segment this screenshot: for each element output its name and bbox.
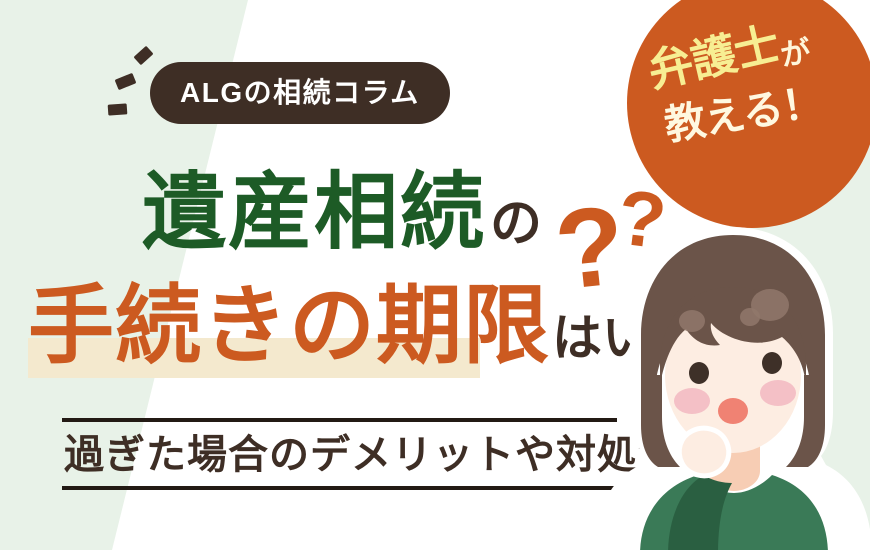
cheek-right	[760, 380, 796, 406]
mouth	[718, 398, 748, 424]
hand	[679, 428, 729, 476]
column-pill-badge: ALGの相続コラム	[150, 62, 450, 124]
thinking-girl-illustration	[600, 225, 870, 550]
subtitle-block: 過ぎた場合のデメリットや対処法	[62, 418, 617, 490]
headline-line1: 遺産相続の	[142, 170, 542, 254]
hair-highlight-3	[740, 308, 760, 326]
sparkle-icon-3	[108, 103, 128, 115]
headline-line2-main: 手続きの期限	[28, 278, 550, 374]
hair-highlight-1	[679, 310, 705, 332]
eye-right	[762, 352, 782, 374]
cheek-left	[674, 388, 710, 414]
subtitle-rule-bottom	[62, 486, 617, 490]
eye-left	[689, 362, 709, 384]
banner-root: 弁護士が 教える！ ALGの相続コラム 遺産相続の ? ? 手続きの期限はいつ？…	[0, 0, 870, 550]
headline-line1-suffix: の	[490, 195, 542, 253]
headline-line1-main: 遺産相続	[142, 165, 486, 259]
subtitle-text: 過ぎた場合のデメリットや対処法	[62, 422, 617, 486]
column-pill-label: ALGの相続コラム	[180, 79, 420, 107]
